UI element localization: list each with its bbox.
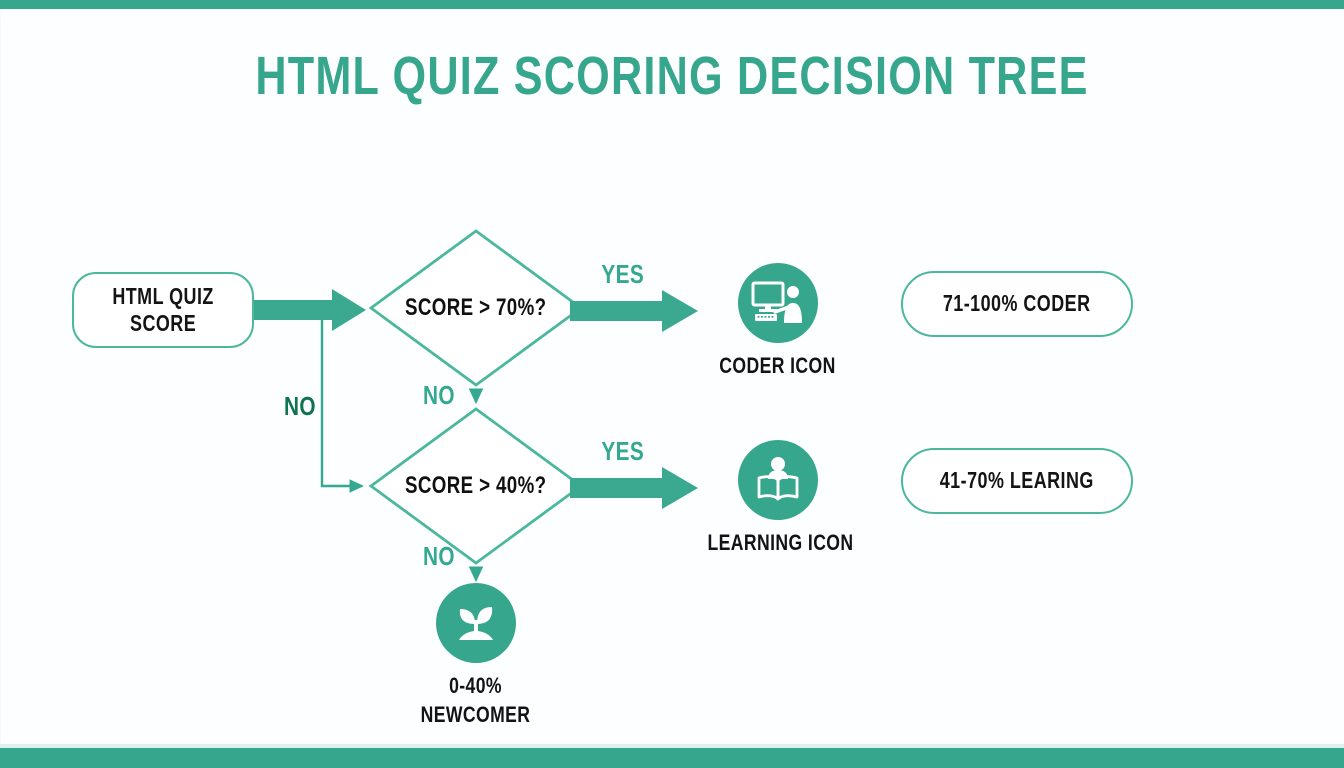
edge-label-no-bypass: NO — [284, 391, 316, 422]
result-coder-label: 71-100% CODER — [943, 290, 1091, 317]
decision-node-score-70[interactable]: SCORE > 70%? — [368, 228, 584, 388]
page-title: HTML QUIZ SCORING DECISION TREE — [134, 45, 1209, 107]
decision-tree-canvas: HTML QUIZ SCORING DECISION TREE HTML QUI… — [0, 0, 1344, 768]
bottom-accent-bar — [0, 748, 1344, 768]
arrow-start-to-decision1 — [254, 289, 366, 331]
edge-label-yes-1: YES — [601, 259, 644, 290]
coder-icon-caption: CODER ICON — [708, 353, 848, 380]
learning-icon-caption: LEARNING ICON — [708, 530, 848, 557]
edge-label-yes-2: YES — [601, 436, 644, 467]
edge-label-no-2: NO — [423, 541, 455, 572]
connector-lines — [0, 0, 1344, 768]
learning-icon — [738, 440, 818, 520]
newcomer-icon-caption-line2: NEWCOMER — [406, 702, 546, 729]
start-node-line2: SCORE — [112, 310, 214, 337]
top-accent-bar — [0, 0, 1344, 9]
arrow-decision2-yes — [570, 467, 698, 509]
arrow-decision1-yes — [570, 290, 698, 332]
start-node-line1: HTML QUIZ — [112, 283, 214, 310]
edge-label-no-1: NO — [423, 380, 455, 411]
coder-icon-group: CODER ICON — [690, 263, 865, 380]
result-node-coder[interactable]: 71-100% CODER — [901, 271, 1133, 337]
decision-node-score-40[interactable]: SCORE > 40%? — [368, 406, 584, 566]
newcomer-icon-group: 0-40% NEWCOMER — [388, 583, 563, 729]
result-node-learning[interactable]: 41-70% LEARING — [901, 448, 1133, 514]
edge-no-bypass-to-d2 — [322, 318, 362, 486]
sprout-icon — [436, 583, 516, 663]
coder-icon — [738, 263, 818, 343]
newcomer-icon-caption-line1: 0-40% — [406, 673, 546, 700]
learning-icon-group: LEARNING ICON — [690, 440, 865, 557]
start-node[interactable]: HTML QUIZ SCORE — [72, 272, 254, 348]
result-learning-label: 41-70% LEARING — [940, 467, 1094, 494]
